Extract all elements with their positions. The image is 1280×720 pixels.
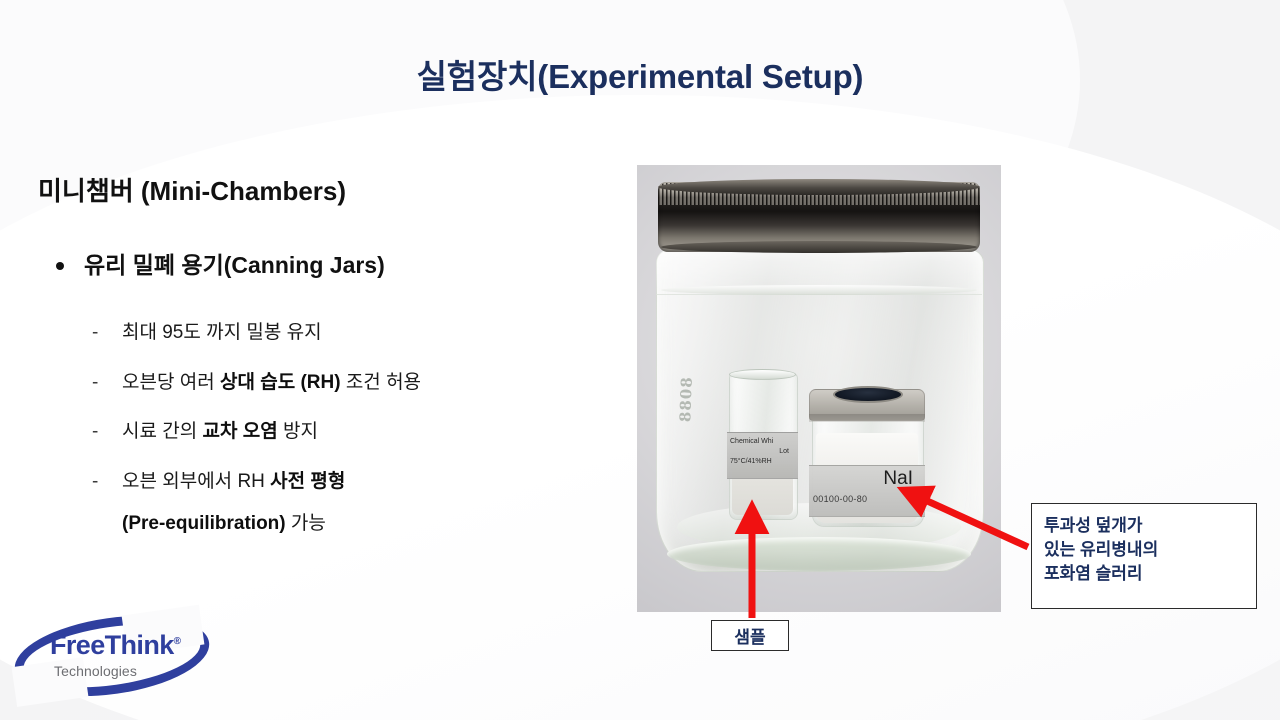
callout-saturated-salt-slurry: 투과성 덮개가 있는 유리병내의 포화염 슬러리	[1031, 503, 1257, 609]
logo-registered-mark: ®	[174, 636, 181, 647]
salt-jar-lot: 00100-00-80	[813, 494, 867, 504]
permeable-cap-opening	[833, 386, 903, 403]
callout-line-3: 포화염 슬러리	[1044, 562, 1256, 586]
vial-label-line1: Chemical Whi	[730, 437, 795, 447]
list-item-text-emphasis-2: (Pre-equilibration)	[122, 513, 286, 534]
dash-icon: -	[92, 469, 98, 495]
logo-wordmark: FreeThink®	[50, 632, 180, 659]
metal-lid-bottom-edge	[661, 241, 977, 253]
salt-jar-label: NaI 00100-00-80	[809, 465, 925, 517]
vial-label-line3: 75°C/41%RH	[730, 457, 795, 467]
logo-tagline: Technologies	[54, 663, 137, 679]
list-item-text-emphasis: 상대 습도 (RH)	[220, 372, 341, 393]
metal-lid-top-rim	[658, 179, 980, 195]
dash-icon: -	[92, 320, 98, 346]
primary-bullet-label: 유리 밀폐 용기(Canning Jars)	[84, 252, 385, 278]
salt-jar-name: NaI	[883, 468, 913, 490]
section-heading: 미니챔버 (Mini-Chambers)	[38, 176, 618, 207]
sub-bullet-list: - 최대 95도 까지 밀봉 유지 - 오븐당 여러 상대 습도 (RH) 조건…	[38, 320, 618, 536]
glass-jar-neck-ring	[661, 285, 977, 295]
glass-jar-base	[667, 537, 971, 571]
list-item-text-pre: 오븐당 여러	[122, 372, 220, 393]
list-item-text: 최대 95도 까지 밀봉 유지	[122, 322, 322, 343]
callout-sample: 샘플	[711, 620, 789, 651]
list-item: - 오븐당 여러 상대 습도 (RH) 조건 허용	[38, 370, 618, 396]
list-item-text-post: 조건 허용	[341, 372, 421, 393]
list-item: - 시료 간의 교차 오염 방지	[38, 419, 618, 445]
sample-vial-label: Chemical Whi Lot 75°C/41%RH	[727, 432, 798, 479]
logo-name: FreeThink	[50, 630, 174, 660]
bullet-dot-icon	[56, 262, 64, 270]
content-column: 미니챔버 (Mini-Chambers) 유리 밀폐 용기(Canning Ja…	[38, 176, 618, 560]
dash-icon: -	[92, 419, 98, 445]
callout-line-1: 투과성 덮개가	[1044, 514, 1256, 538]
sample-vial-rim	[729, 369, 796, 380]
page-title: 실험장치(Experimental Setup)	[0, 50, 1280, 98]
list-item-text-emphasis: 교차 오염	[202, 421, 277, 442]
list-item-text-pre: 시료 간의	[122, 421, 202, 442]
list-item-text-emphasis: 사전 평형	[270, 471, 345, 492]
primary-bullet: 유리 밀폐 용기(Canning Jars)	[38, 251, 618, 280]
list-item-text-pre: 오븐 외부에서 RH	[122, 471, 270, 492]
callout-sample-label: 샘플	[734, 623, 765, 648]
dash-icon: -	[92, 370, 98, 396]
list-item-text-post: 방지	[278, 421, 318, 442]
list-item-text-post-2: 가능	[286, 513, 326, 534]
vial-label-line2: Lot	[730, 447, 795, 457]
permeable-cap-band	[809, 414, 925, 422]
list-item-second-line: (Pre-equilibration) 가능	[122, 511, 618, 537]
list-item: - 최대 95도 까지 밀봉 유지	[38, 320, 618, 346]
canning-jar-photo: 8808 Chemical Whi Lot 75°C/41%RH NaI 001…	[637, 165, 1001, 612]
freethink-logo: FreeThink® Technologies	[6, 606, 216, 704]
callout-line-2: 있는 유리병내의	[1044, 538, 1256, 562]
list-item: - 오븐 외부에서 RH 사전 평형 (Pre-equilibration) 가…	[38, 469, 618, 536]
